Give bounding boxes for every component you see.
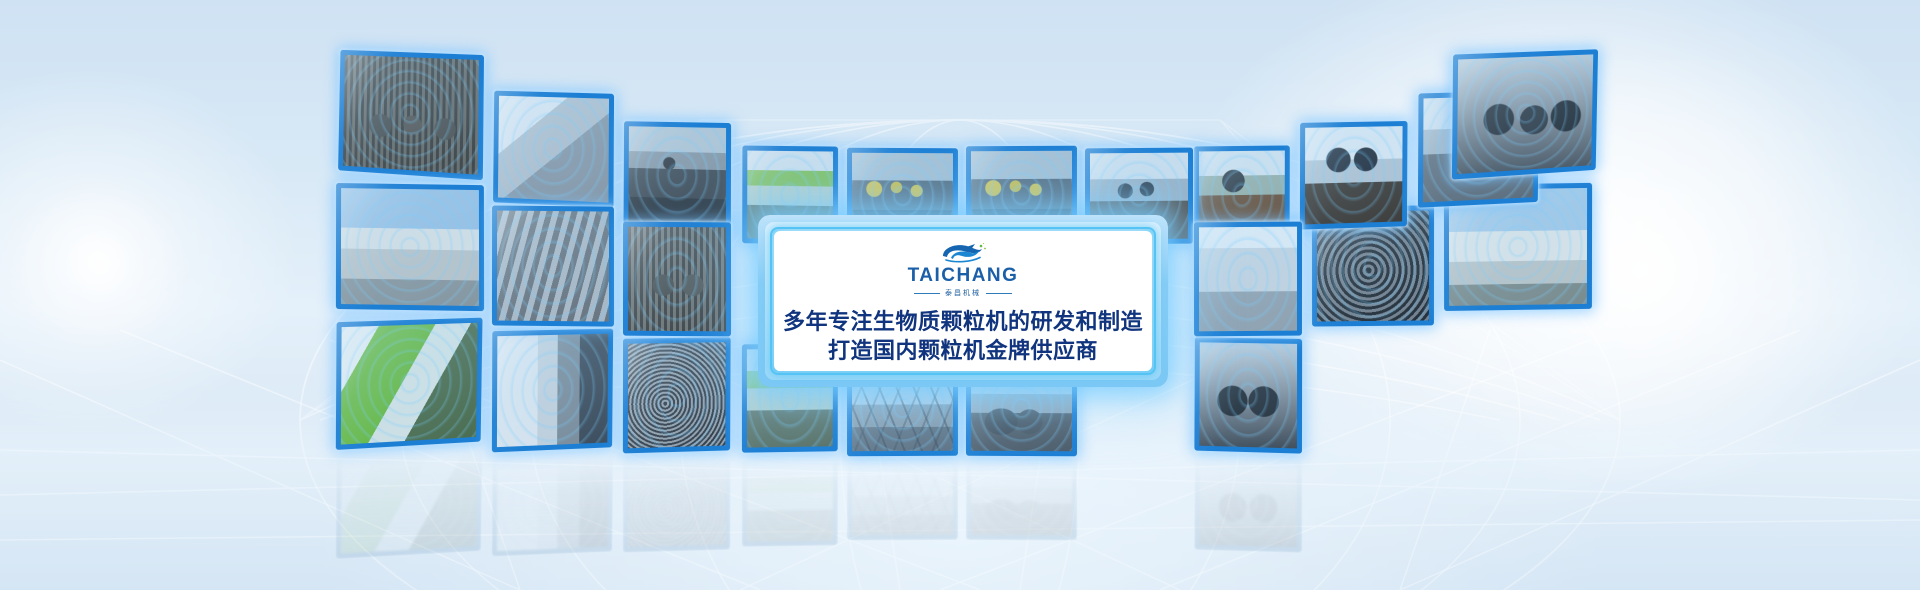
panel-tint [747, 459, 833, 542]
panel-glow-rings [628, 458, 726, 547]
panel-glow-rings [497, 456, 608, 551]
reflection-ring-die-photo [623, 453, 731, 552]
panel-cnc-machine-photo[interactable] [492, 329, 613, 453]
panel-image [497, 211, 609, 322]
panel-image [628, 458, 726, 547]
panel-sheen [742, 454, 838, 547]
panel-sheen [623, 453, 731, 552]
panel-ring-die-photo[interactable] [623, 337, 731, 453]
panel-image [1457, 54, 1593, 174]
panel-image [628, 126, 726, 224]
slogan-text: 多年专注生物质颗粒机的研发和制造 打造国内颗粒机金牌供应商 [783, 308, 1143, 367]
panel-sheen [847, 458, 958, 541]
panel-image [1449, 188, 1587, 306]
panel-frame [847, 458, 958, 541]
panel-image [1199, 458, 1297, 547]
logo-wordmark: TAICHANG [908, 266, 1019, 285]
panel-sheen [1194, 453, 1302, 552]
reflection-rollers-photo [966, 458, 1077, 541]
panel-tint [628, 458, 726, 547]
panel-image [497, 334, 608, 447]
slogan-card: TAICHANG 泰昌机械 多年专注生物质颗粒机的研发和制造 打造国内颗粒机金牌… [758, 215, 1168, 387]
logo-rule-left [914, 293, 940, 294]
panel-image [1199, 342, 1297, 448]
panel-image [1199, 227, 1297, 332]
panel-image [498, 96, 609, 203]
panel-metal-parts-photo[interactable] [492, 205, 614, 326]
panel-bearings-photo[interactable] [1452, 49, 1598, 179]
panel-sheen [492, 451, 613, 557]
panel-glow-rings [1199, 458, 1297, 547]
panel-pellet-mill-row-photo[interactable] [336, 318, 483, 450]
panel-tint [852, 463, 953, 535]
panel-image [747, 459, 833, 542]
panel-glow-rings [747, 459, 833, 542]
logo-chinese-name: 泰昌机械 [945, 288, 981, 298]
panel-image [341, 188, 479, 306]
panel-image [343, 55, 479, 175]
reflection-green-machine-photo [742, 454, 838, 547]
panel-gear-stack-photo[interactable] [623, 222, 731, 337]
lens-flare-left [10, 175, 190, 355]
company-logo: TAICHANG 泰昌机械 [908, 241, 1019, 298]
panel-image [628, 342, 726, 448]
reflection-workshop-hall-photo [847, 458, 958, 541]
panel-handshake-photo[interactable] [1300, 121, 1408, 230]
panel-frame [336, 446, 483, 559]
panel-gear-assembly-photo[interactable] [338, 50, 484, 180]
panel-image [628, 227, 726, 332]
panel-frame [492, 451, 613, 557]
panel-tire-moulds-photo[interactable] [1194, 337, 1302, 453]
logo-chinese-subtitle: 泰昌机械 [914, 288, 1012, 298]
panel-image [1305, 126, 1403, 224]
panel-frame [966, 458, 1077, 541]
panel-sheen [336, 446, 483, 559]
promotional-banner: TAICHANG 泰昌机械 多年专注生物质颗粒机的研发和制造 打造国内颗粒机金牌… [0, 0, 1920, 590]
panel-control-cabinet-photo[interactable] [1194, 222, 1302, 337]
panel-tint [1199, 458, 1297, 547]
panel-image [341, 451, 478, 554]
panel-turbine-blade-photo[interactable] [493, 91, 614, 208]
panel-lathe-operator-photo[interactable] [624, 121, 732, 230]
panel-glow-rings [341, 451, 478, 554]
panel-image [852, 463, 953, 535]
panel-tint [341, 451, 478, 554]
taichang-swoosh-logo-icon [936, 241, 990, 265]
panel-tint [971, 463, 1072, 535]
panel-image [497, 456, 608, 551]
reflection-cnc-machine-photo [492, 451, 613, 557]
logo-rule-right [986, 293, 1012, 294]
panel-glow-rings [852, 463, 953, 535]
horizon-haze [0, 392, 1920, 590]
panel-frame [623, 453, 731, 552]
panel-tint [497, 456, 608, 551]
reflection-pellet-mill-row-photo [336, 446, 483, 559]
panel-image [971, 463, 1072, 535]
panel-frame [1194, 453, 1302, 552]
panel-factory-building-photo[interactable] [336, 183, 484, 311]
panel-image [341, 323, 478, 445]
panel-sheen [966, 458, 1077, 541]
slogan-line-2: 打造国内颗粒机金牌供应商 [783, 337, 1143, 366]
panel-frame [742, 454, 838, 547]
slogan-line-1: 多年专注生物质颗粒机的研发和制造 [783, 308, 1143, 337]
reflection-tire-moulds-photo [1194, 453, 1302, 552]
panel-glow-rings [971, 463, 1072, 535]
card-face: TAICHANG 泰昌机械 多年专注生物质颗粒机的研发和制造 打造国内颗粒机金牌… [774, 231, 1152, 371]
